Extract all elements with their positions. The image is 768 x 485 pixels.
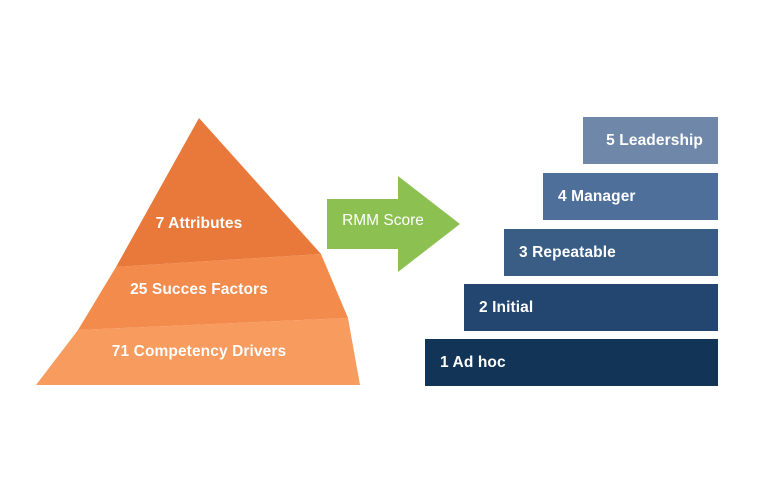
maturity-staircase: 5 Leadership 4 Manager 3 Repeatable 2 In… — [0, 0, 768, 485]
stair-step-4-label: 4 Manager — [558, 188, 636, 206]
diagram-canvas: 7 Attributes 25 Succes Factors 71 Compet… — [0, 0, 768, 485]
stair-step-3-label: 3 Repeatable — [519, 244, 616, 262]
stair-step-1[interactable]: 1 Ad hoc — [425, 339, 718, 386]
stair-step-1-label: 1 Ad hoc — [440, 354, 506, 372]
stair-step-5[interactable]: 5 Leadership — [583, 117, 718, 164]
stair-step-3[interactable]: 3 Repeatable — [504, 229, 718, 276]
stair-step-2[interactable]: 2 Initial — [464, 284, 718, 331]
stair-step-5-label: 5 Leadership — [606, 132, 703, 150]
stair-step-4[interactable]: 4 Manager — [543, 173, 718, 220]
stair-step-2-label: 2 Initial — [479, 299, 533, 317]
